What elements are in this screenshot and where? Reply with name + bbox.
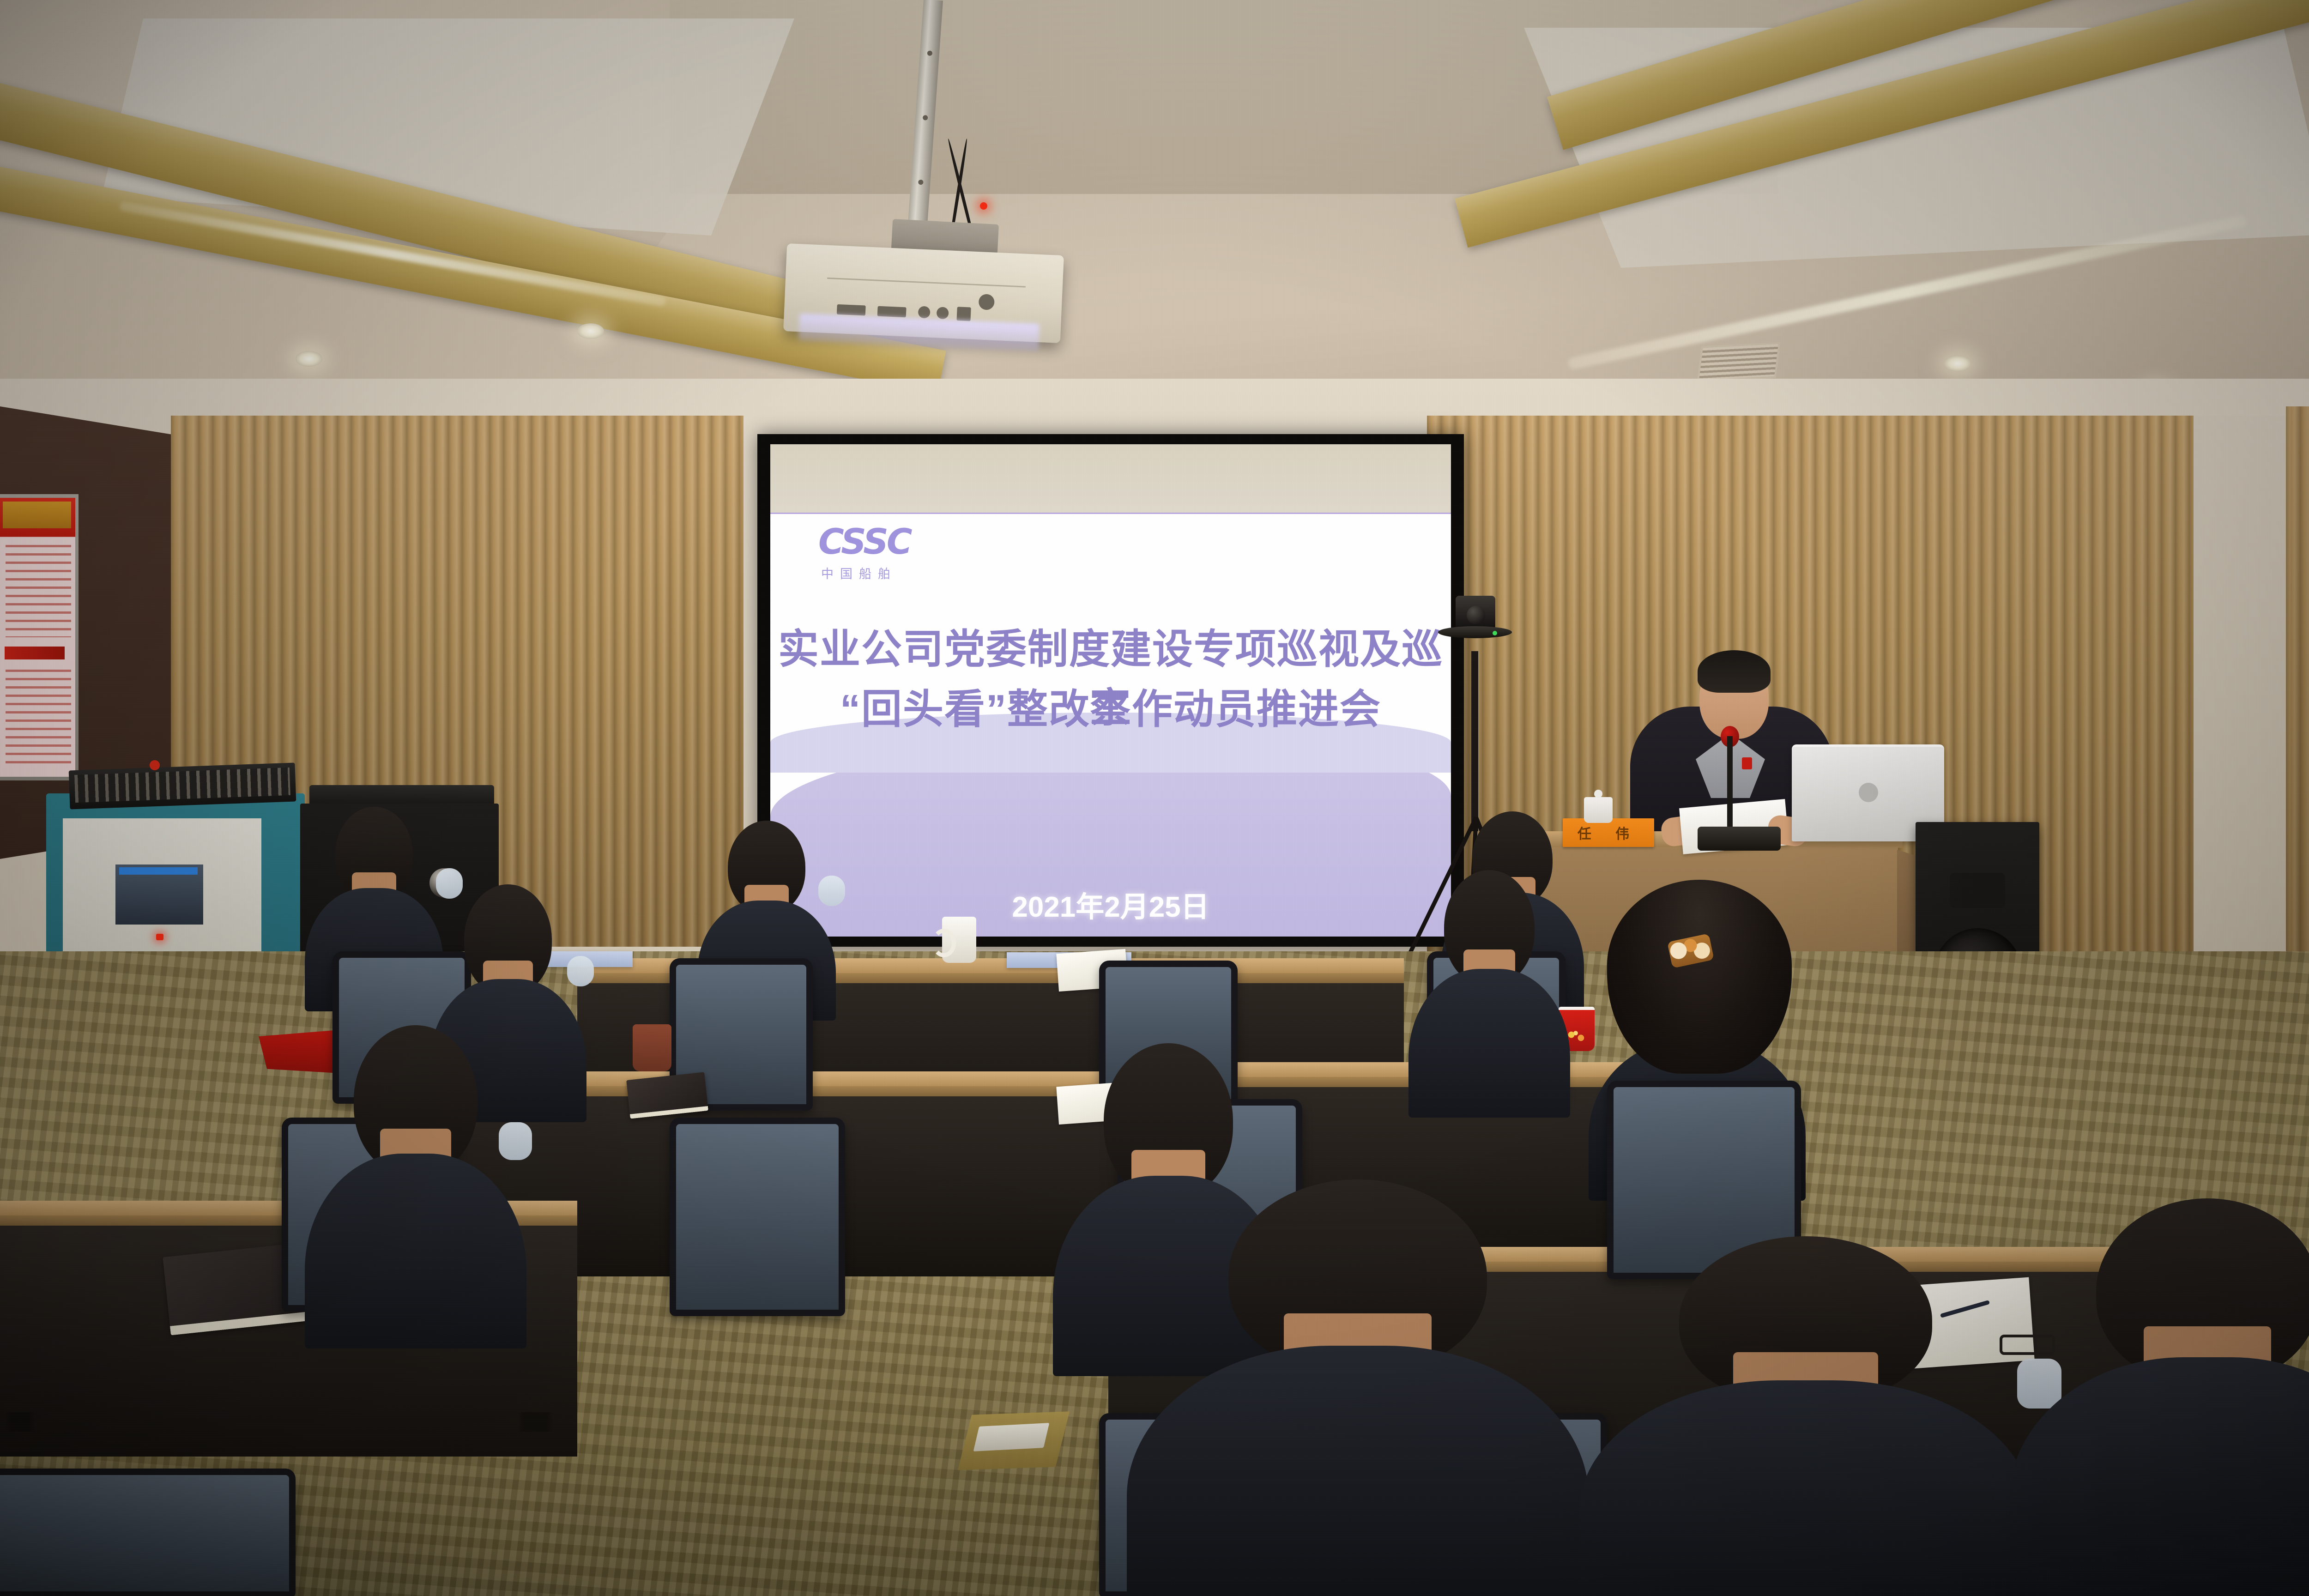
chair-foreground[interactable]: [0, 1469, 296, 1596]
right-wall-pillar: [2184, 416, 2300, 970]
audio-mixing-console[interactable]: [69, 762, 296, 809]
projector-power-led: [980, 202, 987, 210]
camera-mount-plate: [1438, 626, 1512, 638]
camera-status-led: [1493, 631, 1497, 635]
attendee-hair: [1607, 880, 1792, 1074]
attendee-person-foreground: [2009, 1210, 2309, 1596]
attendee-person: [305, 1034, 526, 1348]
notice-board-text: [6, 670, 71, 767]
av-power-led: [156, 934, 163, 940]
lidded-teacup: [1584, 797, 1613, 823]
av-display-indicator: [119, 867, 198, 875]
mixer-faders[interactable]: [74, 768, 290, 803]
cssc-logo: CSSC: [818, 524, 911, 559]
cssc-logo-subtext: 中国船舶: [821, 564, 897, 582]
notice-board-text: [6, 545, 71, 637]
presentation-slide: CSSC 中国船舶 实业公司党委制度建设专项巡视及巡察 “回头看”整改工作动员推…: [770, 513, 1451, 937]
mug: [942, 917, 976, 963]
downlight-icon: [1944, 356, 1971, 371]
face-mask-icon: [818, 876, 845, 906]
downlight-icon: [577, 323, 604, 339]
downlight-icon: [296, 351, 322, 367]
presenter-lapel-pin: [1742, 757, 1752, 769]
attendee-person-foreground: [1579, 1247, 2032, 1596]
attendee-person: [1408, 877, 1570, 1118]
presenter-hair: [1698, 650, 1771, 693]
slide-title-line-2: “回头看”整改工作动员推进会: [770, 677, 1451, 735]
notice-board-section-band: [5, 647, 65, 659]
mug: [633, 1024, 671, 1071]
laptop-logo-icon: [1859, 783, 1878, 802]
air-vent-icon: [1697, 342, 1781, 382]
tripod-column: [1471, 651, 1478, 831]
curtain-far-right: [2286, 406, 2309, 1007]
notice-board-header: [3, 502, 71, 528]
projection-screen: CSSC 中国船舶 实业公司党委制度建设专项巡视及巡察 “回头看”整改工作动员推…: [770, 444, 1451, 937]
floor-outlet-cover: [973, 1423, 1050, 1451]
slide-date: 2021年2月25日: [770, 883, 1451, 925]
attendee-person-foreground: [1127, 1191, 1589, 1596]
microphone-base: [1698, 827, 1781, 851]
notebook: [626, 1072, 708, 1118]
mixer-indicator: [150, 760, 160, 770]
camera-lens-icon: [1467, 606, 1485, 624]
chair[interactable]: [670, 1118, 845, 1316]
face-mask-icon: [567, 956, 594, 986]
meeting-room-photo: CSSC 中国船舶 实业公司党委制度建设专项巡视及巡察 “回头看”整改工作动员推…: [0, 0, 2309, 1596]
face-mask-icon: [499, 1122, 532, 1160]
screen-upper-blank: [770, 444, 1451, 513]
